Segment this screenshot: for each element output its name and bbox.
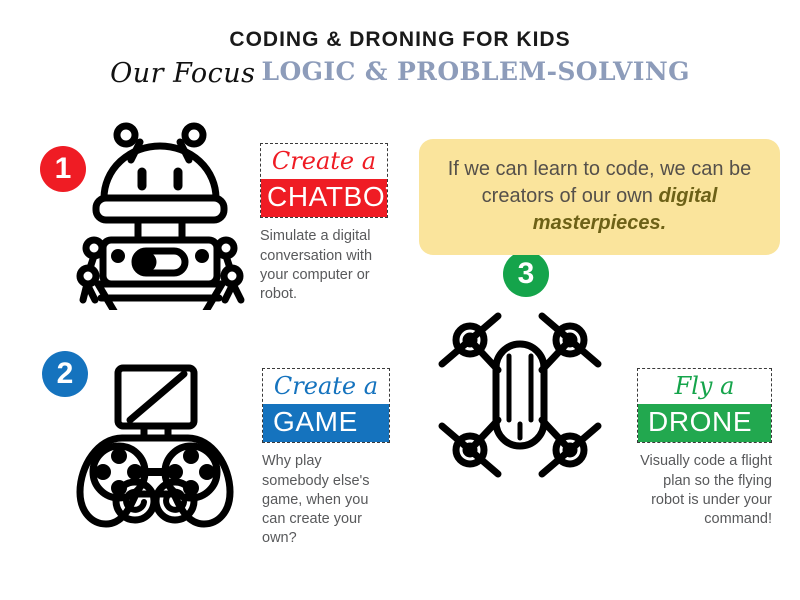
- card-game: Create a GAME Why play somebody else's g…: [262, 368, 390, 548]
- header: CODING & DRONING FOR KIDS Our FocusLOGIC…: [0, 28, 800, 87]
- subtitle: Our FocusLOGIC & PROBLEM-SOLVING: [0, 57, 800, 87]
- chatbot-body: Simulate a digital conversation with you…: [260, 227, 388, 304]
- quote-line-1: If we can learn to code, we: [448, 158, 686, 180]
- game-title: GAME: [263, 404, 389, 443]
- chatbot-title: CHATBOT: [261, 179, 387, 218]
- drone-icon: [424, 308, 616, 485]
- page-title: CODING & DRONING FOR KIDS: [0, 28, 800, 51]
- infographic-canvas: CODING & DRONING FOR KIDS Our FocusLOGIC…: [0, 0, 800, 600]
- card-chatbot: Create a CHATBOT Simulate a digital conv…: [260, 143, 388, 304]
- quote-callout: If we can learn to code, we can be creat…: [419, 139, 780, 255]
- game-body: Why play somebody else's game, when you …: [262, 452, 390, 548]
- step-badge-3: 3: [503, 251, 549, 297]
- subtitle-script: Our Focus: [110, 58, 261, 89]
- game-script: Create a: [263, 369, 389, 404]
- card-drone: Fly a DRONE Visually code a flight plan …: [637, 368, 772, 529]
- chatbot-label-box: Create a CHATBOT: [260, 143, 388, 218]
- subtitle-accent: LOGIC & PROBLEM-SOLVING: [262, 57, 690, 86]
- game-label-box: Create a GAME: [262, 368, 390, 443]
- drone-script: Fly a: [638, 369, 771, 404]
- drone-body: Visually code a flight plan so the flyin…: [637, 452, 772, 529]
- drone-label-box: Fly a DRONE: [637, 368, 772, 443]
- chatbot-script: Create a: [261, 144, 387, 179]
- robot-icon: [74, 120, 246, 315]
- gamepad-icon: [62, 362, 248, 539]
- drone-title: DRONE: [638, 404, 771, 443]
